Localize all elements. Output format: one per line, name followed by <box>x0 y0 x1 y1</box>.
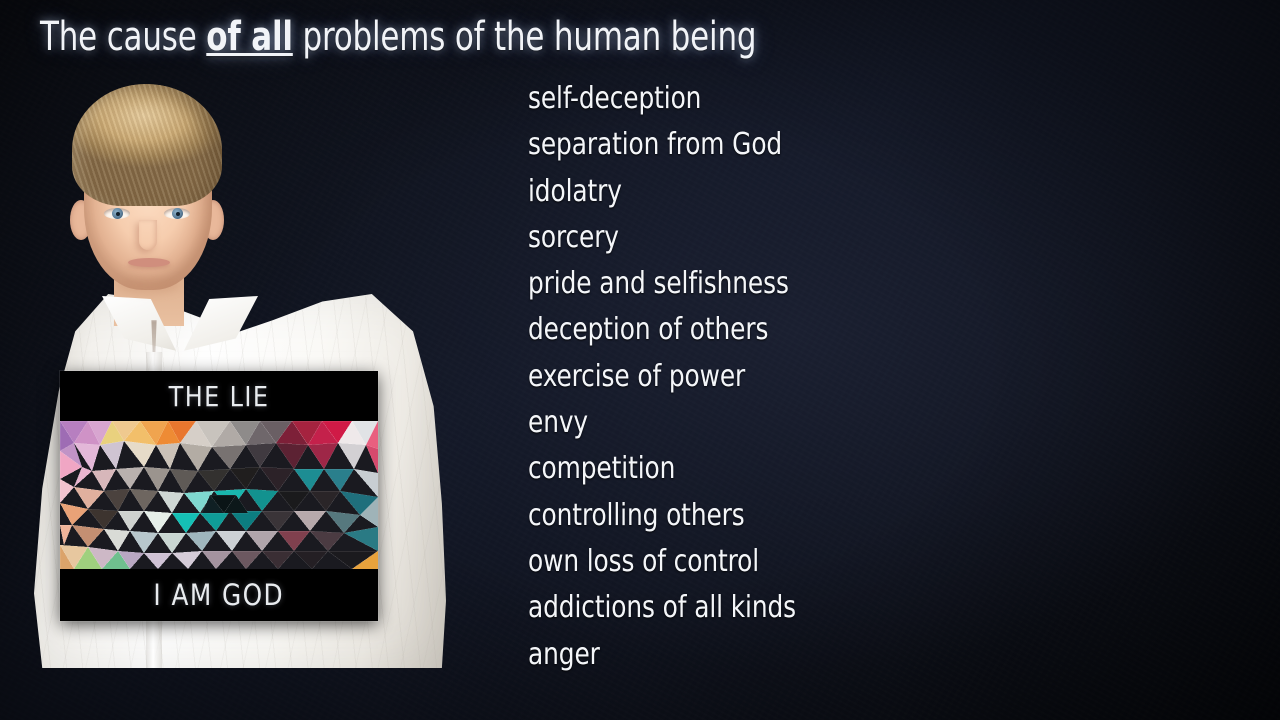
nose <box>139 220 157 250</box>
eye-left <box>104 208 130 219</box>
title-emphasis: of all <box>206 14 293 60</box>
iris-left <box>112 208 123 219</box>
presentation-slide: The cause of all problems of the human b… <box>0 0 1280 720</box>
hair-strands <box>72 84 222 206</box>
list-item: deception of others <box>528 307 1080 353</box>
low-poly-eye-icon <box>60 421 378 569</box>
chin-shadow <box>118 276 180 294</box>
list-item: addictions of all kinds <box>528 585 1080 631</box>
list-item: sorcery <box>528 215 1080 261</box>
list-item: controlling others <box>528 493 1080 539</box>
title-suffix: problems of the human being <box>293 14 757 60</box>
card-top-label: THE LIE <box>169 380 270 413</box>
list-item: self-deception <box>528 76 1080 122</box>
list-item: idolatry <box>528 169 1080 215</box>
the-lie-card[interactable]: THE LIE <box>60 371 378 621</box>
card-bottom-band: I AM GOD <box>60 569 378 621</box>
list-item: own loss of control <box>528 539 1080 585</box>
problems-list: self-deception separation from God idola… <box>528 76 1128 678</box>
card-top-band: THE LIE <box>60 371 378 421</box>
title-prefix: The cause <box>40 14 206 60</box>
hair <box>72 84 222 206</box>
list-item: competition <box>528 446 1080 492</box>
list-item: anger <box>528 632 1080 678</box>
list-item: envy <box>528 400 1080 446</box>
list-item: pride and selfishness <box>528 261 1080 307</box>
iris-right <box>172 208 183 219</box>
page-title: The cause of all problems of the human b… <box>40 12 756 62</box>
mouth <box>128 258 170 267</box>
list-item: separation from God <box>528 122 1080 168</box>
list-item: exercise of power <box>528 354 1080 400</box>
eye-right <box>164 208 190 219</box>
card-bottom-label: I AM GOD <box>154 578 285 612</box>
